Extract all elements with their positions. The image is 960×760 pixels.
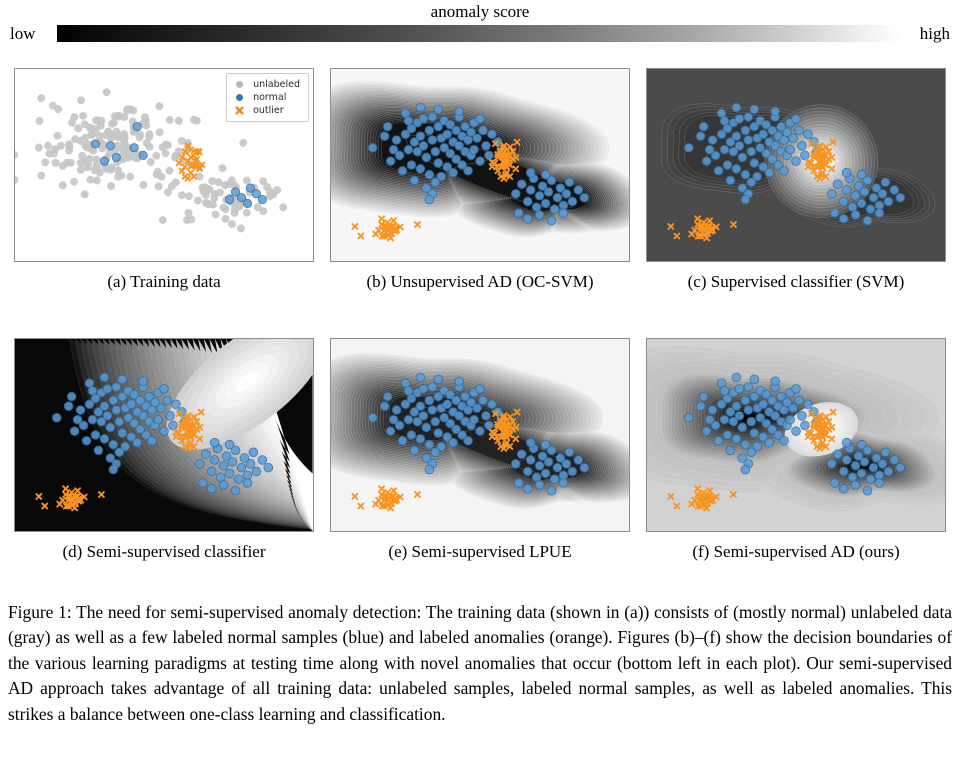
legend-item-normal: normal	[232, 91, 300, 104]
legend-item-unlabeled: unlabeled	[232, 78, 300, 91]
figure-root: anomaly score low high unlabeled normal	[0, 0, 960, 760]
panel-e-caption: (e) Semi-supervised LPUE	[330, 542, 630, 562]
panel-d-caption: (d) Semi-supervised classifier	[14, 542, 314, 562]
legend: unlabeled normal outlier	[226, 73, 309, 122]
panel-c-caption: (c) Supervised classifier (SVM)	[646, 272, 946, 292]
panel-c-supervised-classifier[interactable]	[646, 68, 946, 262]
panel-e-semi-supervised-lpue[interactable]	[330, 338, 630, 532]
panel-b-unsupervised-ad[interactable]	[330, 68, 630, 262]
panel-b-caption: (b) Unsupervised AD (OC-SVM)	[330, 272, 630, 292]
legend-item-outlier: outlier	[232, 104, 300, 117]
legend-label-normal: normal	[248, 91, 286, 104]
colorbar-gradient	[57, 25, 902, 42]
colorbar-title: anomaly score	[0, 2, 960, 22]
panel-d-plot	[15, 339, 313, 531]
panel-c-plot	[647, 69, 945, 261]
colorbar-high-label: high	[920, 24, 950, 44]
panel-a-training-data[interactable]: unlabeled normal outlier	[14, 68, 314, 262]
colorbar: anomaly score low high	[0, 0, 960, 50]
panel-a-caption: (a) Training data	[14, 272, 314, 292]
legend-label-outlier: outlier	[248, 104, 284, 117]
unlabeled-marker-icon	[232, 78, 248, 91]
figure-caption-text: The need for semi-supervised anomaly det…	[8, 602, 952, 724]
panel-f-caption: (f) Semi-supervised AD (ours)	[646, 542, 946, 562]
panel-f-semi-supervised-ad-ours[interactable]	[646, 338, 946, 532]
outlier-marker-icon	[232, 104, 248, 117]
legend-label-unlabeled: unlabeled	[248, 78, 300, 91]
panel-b-plot	[331, 69, 629, 261]
panel-e-plot	[331, 339, 629, 531]
normal-marker-icon	[232, 91, 248, 104]
figure-caption: Figure 1: The need for semi-supervised a…	[8, 600, 952, 727]
colorbar-low-label: low	[10, 24, 36, 44]
panel-f-plot	[647, 339, 945, 531]
panel-d-semi-supervised-classifier[interactable]	[14, 338, 314, 532]
figure-label: Figure 1:	[8, 602, 72, 622]
